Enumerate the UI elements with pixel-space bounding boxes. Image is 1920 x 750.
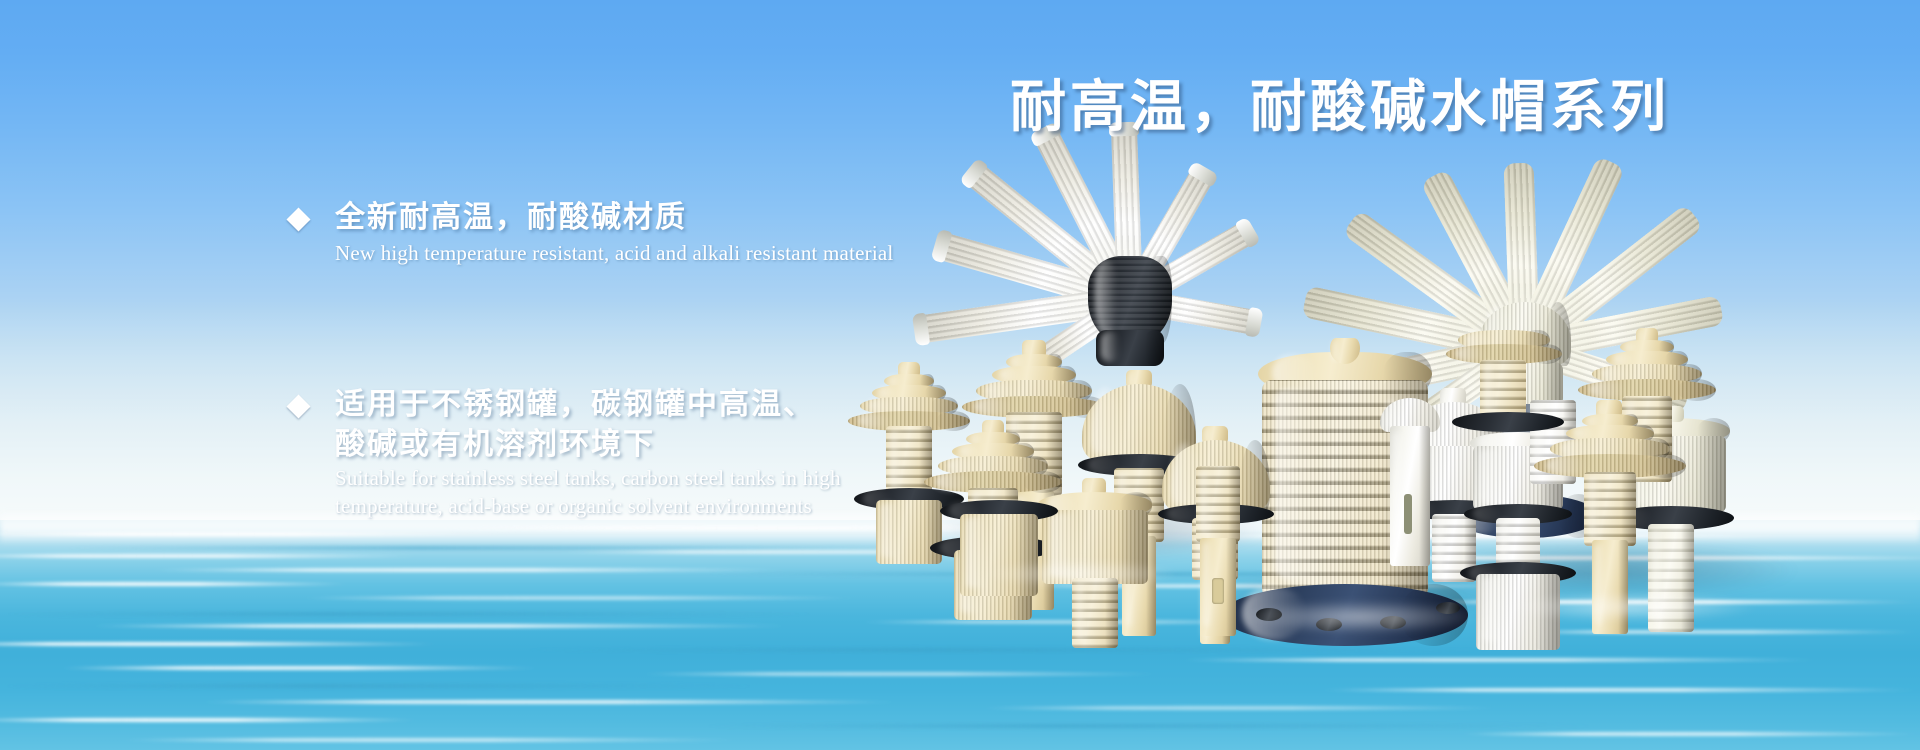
nozzle-threaded-stem: [886, 426, 932, 496]
feature-bullet-1: 全新耐高温，耐酸碱材质 New high temperature resista…: [290, 198, 893, 266]
bullet-2-cn-line-1: 适用于不锈钢罐，碳钢罐中高温、: [335, 385, 841, 425]
feature-bullet-2: 适用于不锈钢罐，碳钢罐中高温、 酸碱或有机溶剂环境下 Suitable for …: [290, 385, 841, 519]
diamond-icon: [286, 207, 310, 231]
bullet-2-en-line-2: temperature, acid-base or organic solven…: [335, 493, 841, 519]
bullet-1-en-line-1: New high temperature resistant, acid and…: [335, 240, 893, 266]
nozzle-slot: [1404, 494, 1412, 534]
banner-stage: 耐高温，耐酸碱水帽系列 全新耐高温，耐酸碱材质 New high tempera…: [0, 0, 1920, 750]
bullet-2-en-line-1: Suitable for stainless steel tanks, carb…: [335, 465, 841, 491]
nozzle-threaded-stem: [1072, 578, 1118, 648]
water-reflection: [980, 560, 1180, 588]
strainer-hub-collar: [1096, 330, 1164, 366]
nozzle-threaded-stem: [1584, 472, 1636, 546]
page-title: 耐高温，耐酸碱水帽系列: [1010, 62, 1670, 143]
water-reflection: [1240, 600, 1480, 634]
bullet-2-cn-line-2: 酸碱或有机溶剂环境下: [335, 425, 841, 465]
nozzle-threaded-stem: [1196, 466, 1240, 542]
o-ring: [1452, 412, 1564, 432]
nozzle-slot: [1212, 578, 1224, 604]
bullet-1-cn: 全新耐高温，耐酸碱材质: [335, 198, 893, 238]
diamond-icon: [286, 394, 310, 418]
water-reflection: [1500, 592, 1760, 622]
nozzle-threaded-stem: [1480, 360, 1526, 418]
nozzle-lower-body: [876, 500, 942, 564]
